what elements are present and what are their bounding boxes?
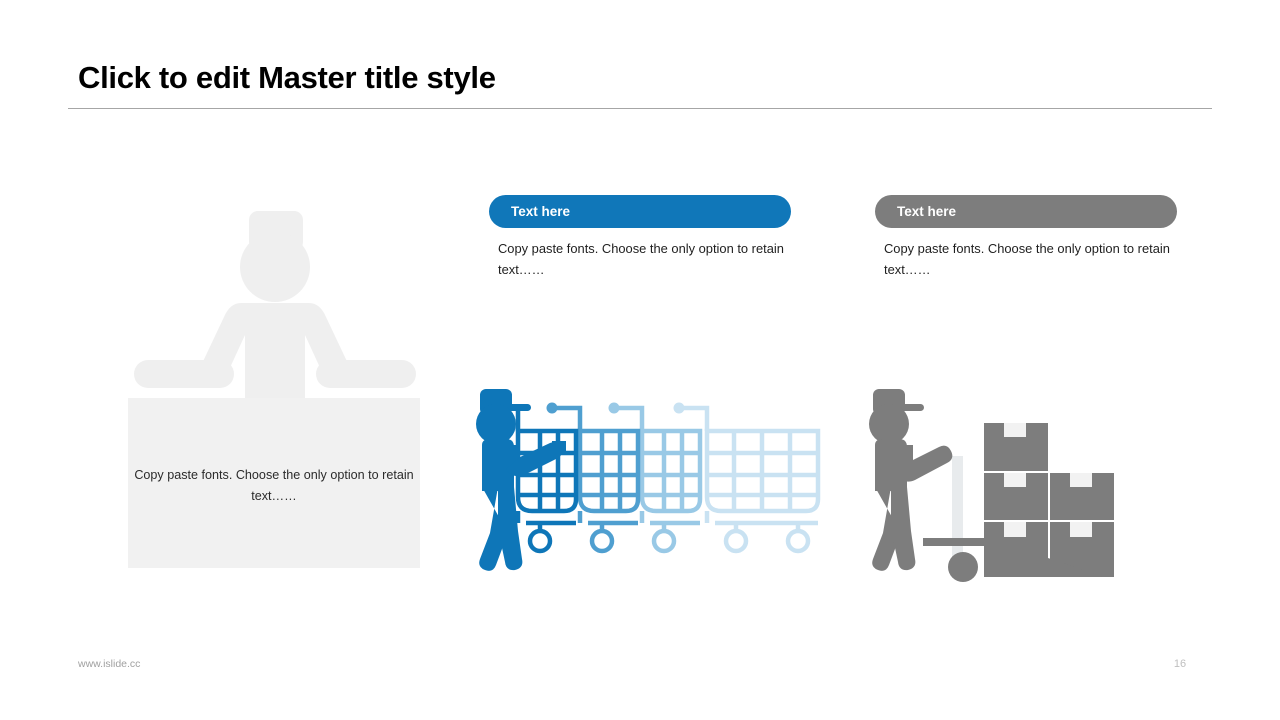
- column-2-body-text: Copy paste fonts. Choose the only option…: [884, 238, 1184, 280]
- worker-pushing-shopping-carts-icon: [468, 383, 832, 585]
- column-2-pill-label: Text here: [897, 204, 956, 219]
- column-1-pill[interactable]: Text here: [489, 195, 791, 228]
- column-1-body-text: Copy paste fonts. Choose the only option…: [498, 238, 798, 280]
- left-panel-body-text: Copy paste fonts. Choose the only option…: [128, 465, 420, 507]
- footer-url[interactable]: www.islide.cc: [78, 658, 140, 670]
- page-title[interactable]: Click to edit Master title style: [78, 60, 1198, 96]
- slide-canvas: Click to edit Master title style Copy pa…: [0, 0, 1280, 720]
- title-divider: [68, 108, 1212, 109]
- column-2-pill[interactable]: Text here: [875, 195, 1177, 228]
- footer-page-number: 16: [1160, 658, 1200, 670]
- person-at-counter-silhouette-icon: [128, 200, 420, 400]
- column-1-pill-label: Text here: [511, 204, 570, 219]
- worker-pushing-hand-truck-with-boxes-icon: [855, 383, 1117, 585]
